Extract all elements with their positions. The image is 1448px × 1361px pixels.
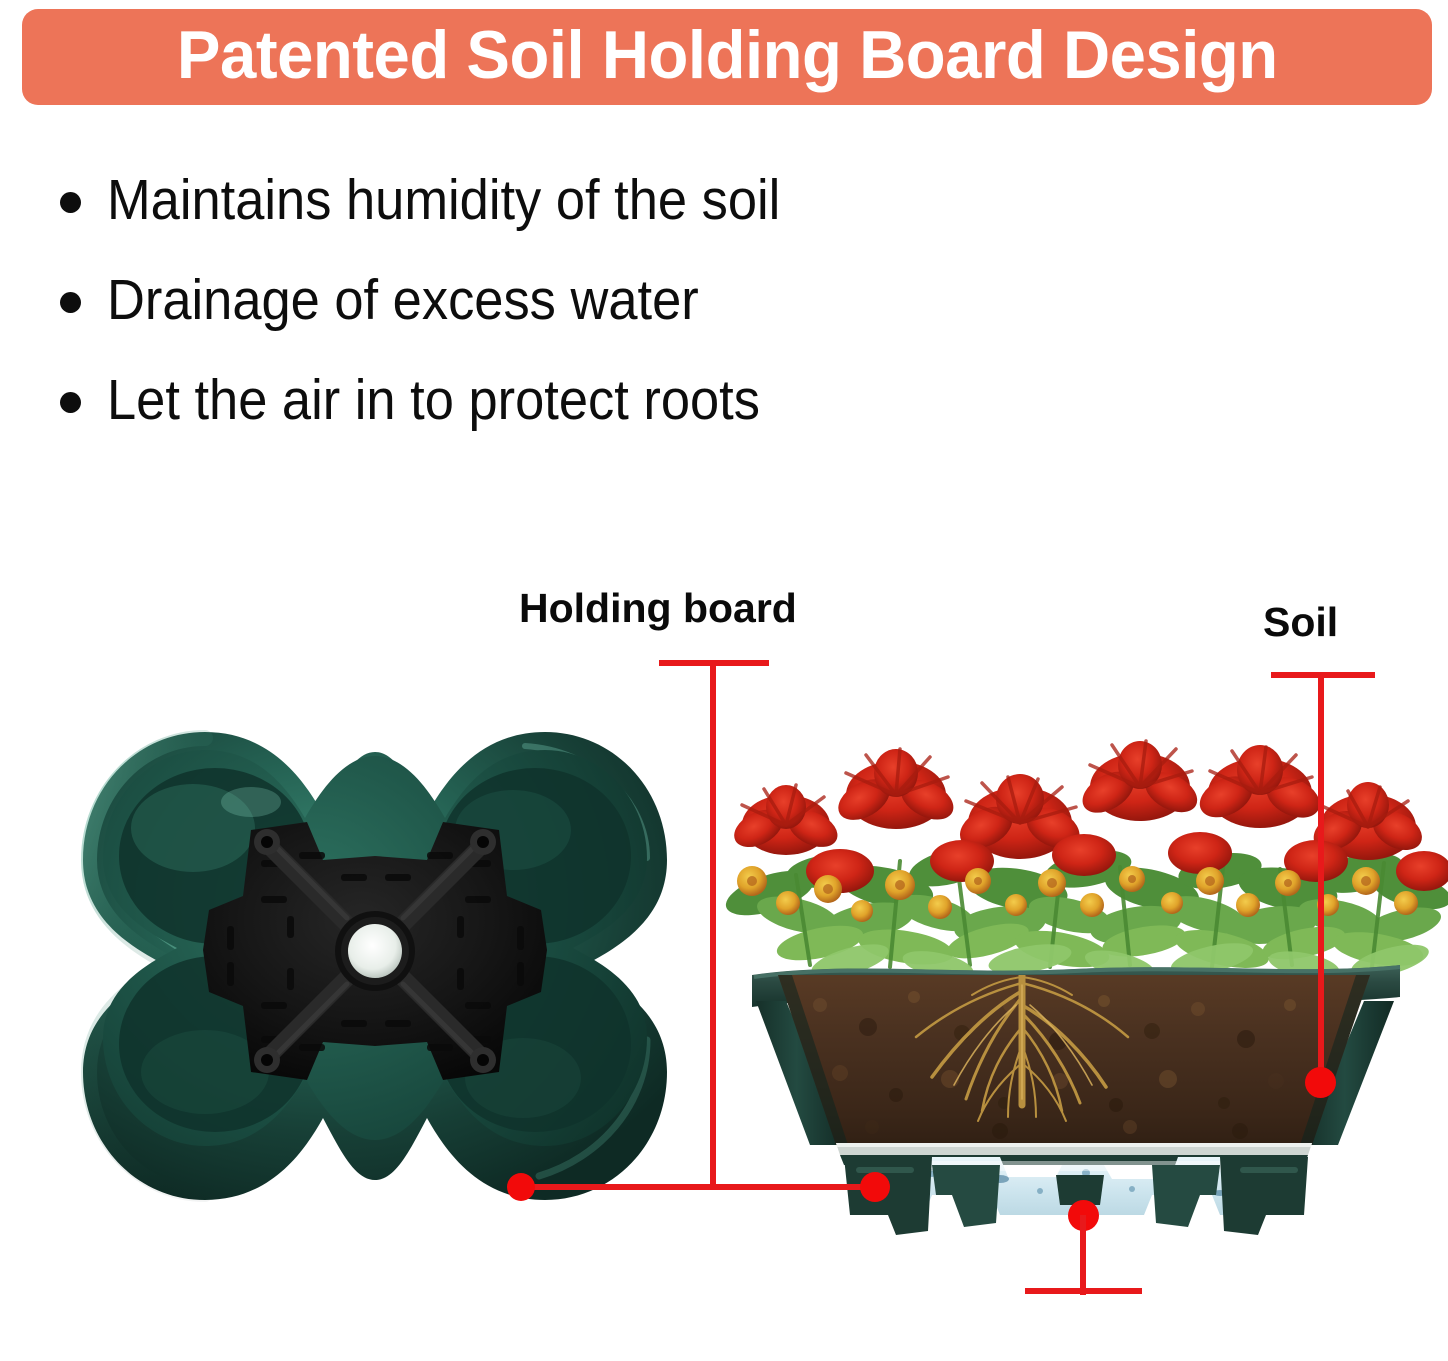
holding-board-insert	[203, 822, 547, 1080]
holding-board-marker-dot-left	[507, 1173, 535, 1201]
page-title: Patented Soil Holding Board Design	[177, 21, 1278, 89]
water-leader-crossbar	[1025, 1288, 1142, 1294]
feature-text: Drainage of excess water	[107, 272, 699, 329]
holding-board-leader-stem	[710, 660, 716, 1187]
list-item: Maintains humidity of the soil	[60, 150, 1160, 250]
clover-planter-top-view-image	[55, 710, 695, 1310]
soil-leader-stem	[1318, 672, 1324, 1081]
list-item: Let the air in to protect roots	[60, 350, 1160, 450]
product-diagram: Holding board Soil Water	[0, 470, 1448, 1361]
infographic-page: Patented Soil Holding Board Design Maint…	[0, 0, 1448, 1361]
feature-bullet-list: Maintains humidity of the soil Drainage …	[60, 150, 1160, 450]
feature-text: Let the air in to protect roots	[107, 372, 760, 429]
bullet-dot-icon	[60, 292, 81, 313]
header-banner: Patented Soil Holding Board Design	[22, 9, 1432, 105]
holding-board-leader-crossbar	[520, 1184, 875, 1190]
holding-board-marker-dot-right	[860, 1172, 890, 1202]
callout-label-holding-board: Holding board	[519, 588, 797, 629]
callout-label-soil: Soil	[1263, 602, 1338, 643]
feature-text: Maintains humidity of the soil	[107, 172, 780, 229]
planter-cross-section-image	[700, 675, 1448, 1285]
water-leader-stem	[1080, 1215, 1086, 1295]
pot-body	[700, 965, 1448, 1165]
bullet-dot-icon	[60, 392, 81, 413]
bullet-dot-icon	[60, 192, 81, 213]
center-drain-hole	[348, 924, 402, 978]
list-item: Drainage of excess water	[60, 250, 1160, 350]
soil-marker-dot	[1305, 1067, 1336, 1098]
